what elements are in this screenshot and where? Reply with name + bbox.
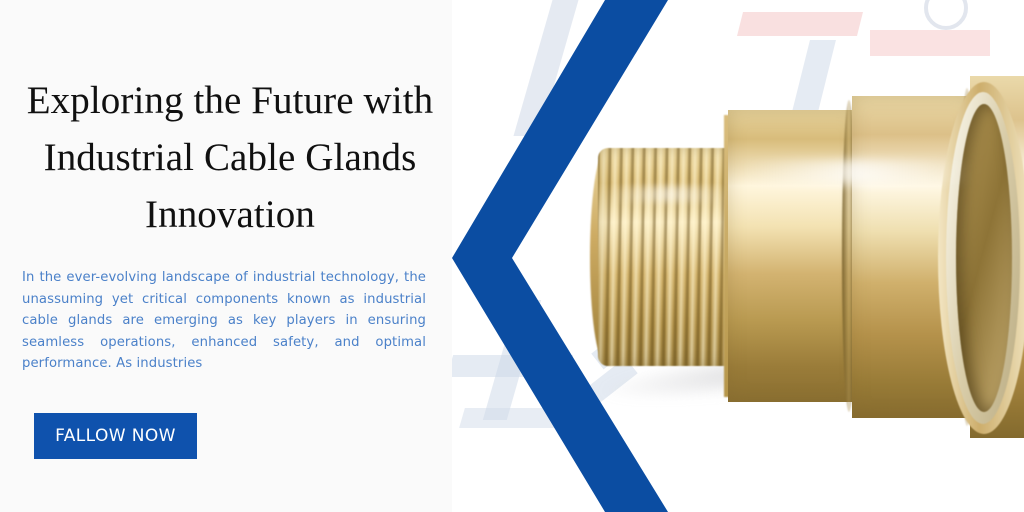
text-content-panel: Exploring the Future with Industrial Cab…	[0, 0, 460, 512]
headline-line-2: Industrial Cable Glands	[8, 129, 452, 186]
fallow-now-button[interactable]: FALLOW NOW	[34, 413, 197, 459]
promo-banner: Exploring the Future with Industrial Cab…	[0, 0, 1024, 512]
specular-highlight	[608, 186, 728, 202]
threaded-nipple	[598, 148, 738, 366]
brass-industrial-cable-gland	[440, 0, 1024, 512]
page-title: Exploring the Future with Industrial Cab…	[8, 72, 452, 243]
body-paragraph: In the ever-evolving landscape of indust…	[22, 267, 426, 375]
specular-highlight	[740, 160, 970, 184]
bore-opening	[956, 104, 1012, 412]
headline-line-1: Exploring the Future with	[8, 72, 452, 129]
product-image-panel	[440, 0, 1024, 512]
cta-button-label: FALLOW NOW	[55, 426, 176, 446]
hex-body-section-one	[728, 110, 858, 402]
headline-line-3: Innovation	[8, 186, 452, 243]
